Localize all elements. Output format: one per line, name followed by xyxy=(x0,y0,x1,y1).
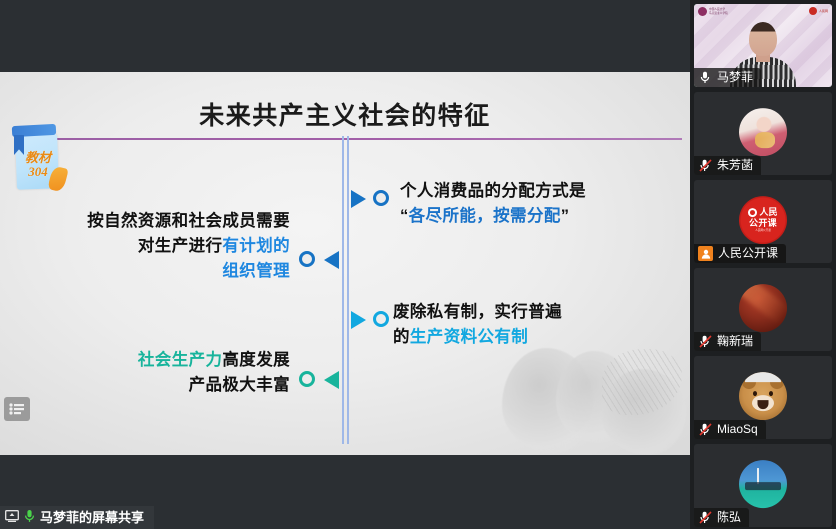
slide-text-segment: 社会生产力 xyxy=(138,351,223,369)
meeting-window: 未来共产主义社会的特征 教材 304 xyxy=(0,0,836,529)
avatar xyxy=(739,372,787,420)
participant-name: 陈弘 xyxy=(717,511,741,524)
participant-tile-chenhong[interactable]: 陈弘 xyxy=(694,444,832,527)
participant-name-badge: 朱芳菡 xyxy=(694,156,761,175)
slide-item-1-text: 个人消费品的分配方式是“各尽所能，按需分配” xyxy=(400,179,630,229)
slide-text-line: 的生产资料公有制 xyxy=(393,325,613,350)
participant-filmstrip[interactable]: 中国人民大学马克思主义学院 人民网 马梦菲 xyxy=(690,0,836,529)
arrow-marker-3 xyxy=(351,311,366,329)
slide-text-segment: “ xyxy=(400,207,409,225)
slide-text-line: 社会生产力高度发展 xyxy=(60,348,290,373)
arrow-marker-4 xyxy=(324,371,339,389)
avatar xyxy=(739,108,787,156)
arrow-marker-2 xyxy=(324,251,339,269)
slide-text-segment: 有计划的 xyxy=(222,237,290,255)
university-logo: 中国人民大学马克思主义学院 xyxy=(698,7,728,16)
avatar xyxy=(739,284,787,332)
participant-name: 朱芳菡 xyxy=(717,159,753,172)
textbook-label-line1: 教材 xyxy=(18,151,58,165)
slide-text-line: 个人消费品的分配方式是 xyxy=(400,179,630,204)
node-marker-2 xyxy=(299,251,315,267)
avatar: 人民 公开课 人民网公开课 xyxy=(739,196,787,244)
participant-name: MiaoSq xyxy=(717,423,758,436)
microphone-icon xyxy=(24,509,35,526)
slide-text-segment: 废除私有制，实行普遍 xyxy=(393,303,562,321)
slide-text-segment: ” xyxy=(561,207,570,225)
slide-text-line: 按自然资源和社会成员需要 xyxy=(40,209,290,234)
slide-text-line: “各尽所能，按需分配” xyxy=(400,204,630,229)
slide-text-segment: 个人消费品的分配方式是 xyxy=(400,182,586,200)
avatar-logo-top-text: 人民 xyxy=(759,208,777,217)
participant-tile-miaosq[interactable]: MiaoSq xyxy=(694,356,832,439)
participant-name: 人民公开课 xyxy=(718,247,778,260)
node-marker-3 xyxy=(373,311,389,327)
avatar-logo-mid-text: 公开课 xyxy=(749,218,777,228)
rmw-logo: 人民网 xyxy=(809,7,828,15)
slide-text-segment: 的 xyxy=(393,328,410,346)
slide-text-line: 组织管理 xyxy=(40,259,290,284)
participant-name-badge: 鞠新瑞 xyxy=(694,332,761,351)
participant-name: 鞠新瑞 xyxy=(717,335,753,348)
slide-text-segment: 产品极大丰富 xyxy=(189,376,290,394)
screen-share-icon xyxy=(5,510,19,525)
slide-text-segment: 按自然资源和社会成员需要 xyxy=(87,212,290,230)
shared-screen-stage[interactable]: 未来共产主义社会的特征 教材 304 xyxy=(0,0,690,529)
share-owner-label: 马梦菲的屏幕共享 xyxy=(40,511,144,524)
slide-text-segment: 生产资料公有制 xyxy=(410,328,528,346)
participant-tile-renmingongkaike[interactable]: 人民 公开课 人民网公开课 人民公开课 xyxy=(694,180,832,263)
slide-title: 未来共产主义社会的特征 xyxy=(0,96,690,132)
textbook-sticker: 教材 304 xyxy=(10,125,66,193)
title-divider xyxy=(37,138,682,140)
microphone-muted-icon xyxy=(698,422,712,437)
timeline-axis xyxy=(341,136,351,444)
arrow-marker-1 xyxy=(351,190,366,208)
microphone-icon xyxy=(698,70,712,85)
slide-text-segment: 组织管理 xyxy=(222,262,290,280)
node-marker-4 xyxy=(299,371,315,387)
participant-tile-mamengfei[interactable]: 中国人民大学马克思主义学院 人民网 马梦菲 xyxy=(694,4,832,87)
host-person-icon xyxy=(698,246,713,261)
avatar xyxy=(739,460,787,508)
slide-text-line: 废除私有制，实行普遍 xyxy=(393,300,613,325)
screen-share-status-bar: 马梦菲的屏幕共享 xyxy=(0,506,154,529)
participant-tile-juxinrui[interactable]: 鞠新瑞 xyxy=(694,268,832,351)
list-menu-icon[interactable] xyxy=(4,397,30,421)
participant-name: 马梦菲 xyxy=(717,71,753,84)
slide-text-segment: 各尽所能，按需分配 xyxy=(409,207,561,225)
slide-text-segment: 对生产进行 xyxy=(138,237,223,255)
participant-name-badge: MiaoSq xyxy=(694,420,766,439)
slide-item-4-text: 社会生产力高度发展产品极大丰富 xyxy=(60,348,290,398)
participant-tile-zhufanghan[interactable]: 朱芳菡 xyxy=(694,92,832,175)
microphone-muted-icon xyxy=(698,158,712,173)
marx-engels-portrait-image xyxy=(494,345,684,455)
microphone-muted-icon xyxy=(698,334,712,349)
slide-text-line: 产品极大丰富 xyxy=(60,373,290,398)
slide-item-3-text: 废除私有制，实行普遍的生产资料公有制 xyxy=(393,300,613,350)
slide-item-2-text: 按自然资源和社会成员需要对生产进行有计划的组织管理 xyxy=(40,209,290,284)
microphone-muted-icon xyxy=(698,510,712,525)
slide-text-line: 对生产进行有计划的 xyxy=(40,234,290,259)
textbook-label-line2: 304 xyxy=(18,165,58,179)
presentation-slide[interactable]: 未来共产主义社会的特征 教材 304 xyxy=(0,72,690,455)
node-marker-1 xyxy=(373,190,389,206)
participant-name-badge: 人民公开课 xyxy=(694,244,786,263)
participant-name-badge: 陈弘 xyxy=(694,508,749,527)
slide-text-segment: 高度发展 xyxy=(222,351,290,369)
participant-name-badge: 马梦菲 xyxy=(694,68,761,87)
